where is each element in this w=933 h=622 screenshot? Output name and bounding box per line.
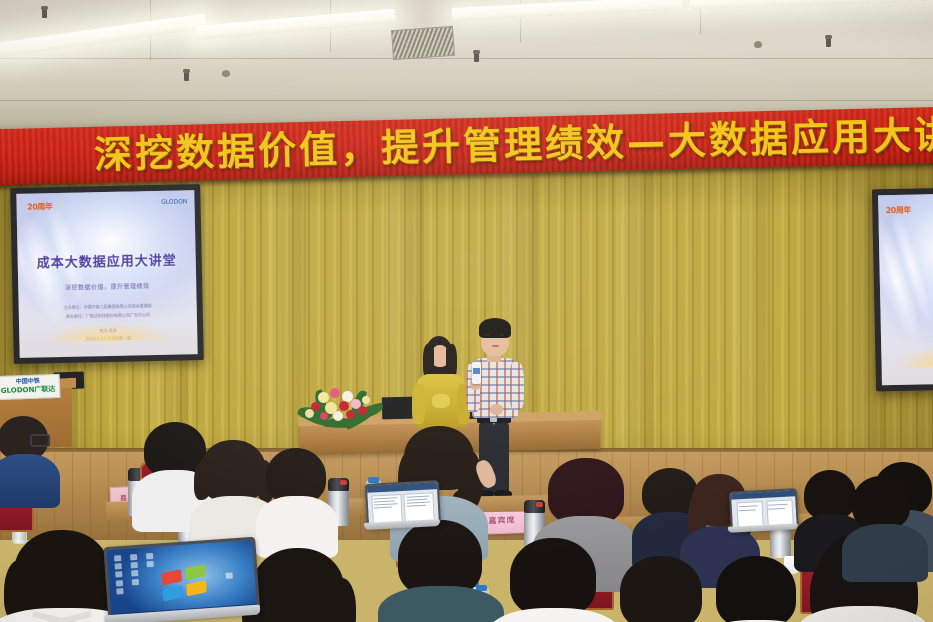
podium-sign: 中国中铁 GLODON广联达 <box>0 374 60 400</box>
ceiling-lamp-fixture <box>184 72 189 81</box>
fire-sprinkler <box>754 41 762 48</box>
fluorescent-light-panel <box>0 13 207 58</box>
projection-screen-right: 20周年 GLODON <box>872 187 933 392</box>
slide-logo-left: 20周年 <box>27 201 52 213</box>
fluorescent-light-panel <box>452 0 682 21</box>
ceiling-lamp-fixture <box>42 9 47 18</box>
slide-glow <box>888 335 933 368</box>
speaker-leg <box>494 422 509 496</box>
speaker-hand <box>490 404 503 415</box>
presentation-slide: 20周年 GLODON 成本大数据应用大讲堂 深挖数据价值，提升管理绩效 主办单… <box>16 190 197 358</box>
fluorescent-light-panel <box>195 9 395 40</box>
laptop-document[interactable] <box>729 488 797 535</box>
projection-screen-left: 20周年 GLODON 成本大数据应用大讲堂 深挖数据价值，提升管理绩效 主办单… <box>10 184 204 364</box>
podium-sign-line2: GLODON广联达 <box>0 385 59 396</box>
editor-toolbar[interactable] <box>731 490 795 500</box>
slide-title: 成本大数据应用大讲堂 <box>18 249 196 272</box>
windows-logo-icon <box>161 564 206 601</box>
fluorescent-light-panel <box>690 0 933 9</box>
ceiling-lamp-fixture <box>474 53 479 62</box>
ceiling-lamp-fixture <box>826 38 831 47</box>
speaker-arm-right <box>510 362 524 410</box>
slide-light-rays <box>878 196 933 352</box>
speaker-hair <box>479 318 511 338</box>
slide-logo-left: 20周年 <box>886 204 911 216</box>
microphone[interactable] <box>472 362 481 384</box>
presenter-woman-arm <box>412 384 425 424</box>
presenter-woman <box>412 336 472 432</box>
fire-sprinkler <box>222 70 230 77</box>
air-vent <box>391 26 455 60</box>
conference-photo: 深挖数据价值，提升管理绩效—大数据应用大讲 20周年 GLODON 成本大数据应… <box>0 0 933 622</box>
microphone-flag <box>473 368 480 374</box>
flower-arrangement <box>296 382 386 430</box>
guest-name-card-text: 嘉宾席 <box>488 514 515 526</box>
slide-glow <box>30 313 187 343</box>
slide-logo-right: GLODON <box>161 198 187 206</box>
presentation-slide-right: 20周年 GLODON <box>878 193 933 386</box>
laptop-document[interactable] <box>365 480 439 532</box>
eyeglasses <box>30 434 50 447</box>
laptop-windows7-desktop[interactable] <box>103 537 258 622</box>
